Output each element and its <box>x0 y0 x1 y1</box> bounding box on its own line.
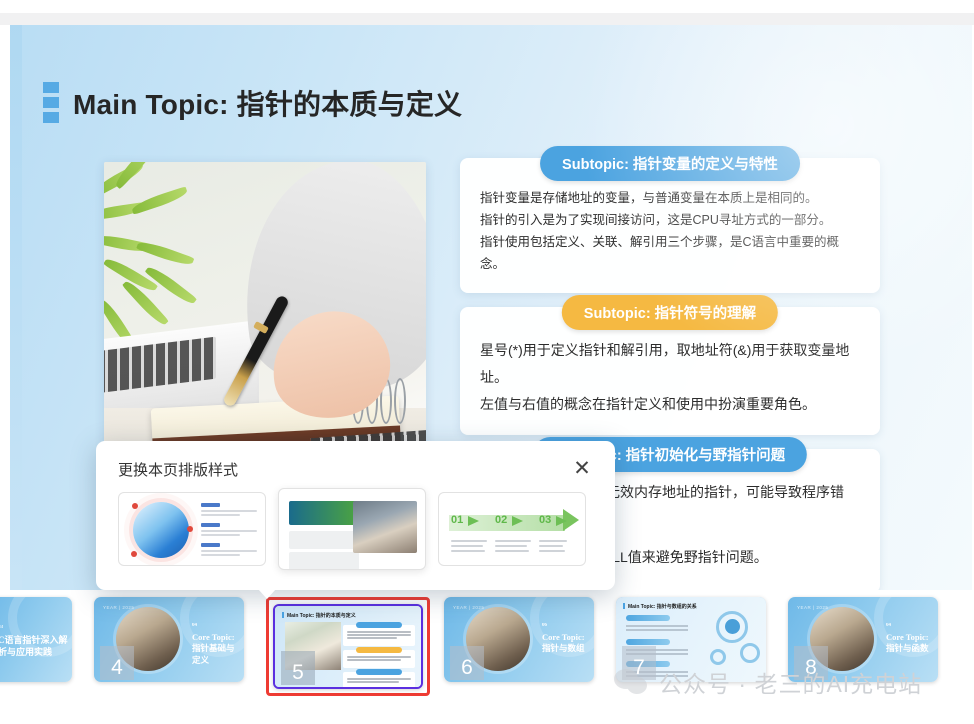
subtopic-line: 左值与右值的概念在指针定义和使用中扮演重要角色。 <box>480 391 860 418</box>
filmstrip-slot-selected[interactable]: Main Topic: 指针的本质与定义 <box>266 597 430 696</box>
person-icon <box>725 619 740 634</box>
mini-pill <box>356 622 402 628</box>
mini-pill <box>356 669 402 675</box>
slide-kicker: 04 <box>192 623 240 630</box>
window-toolbar-band <box>0 13 974 25</box>
slide-number: 4 <box>100 646 134 680</box>
green-banner-preview <box>289 501 359 525</box>
subtopic-line: 指针变量是存储地址的变量，与普通变量在本质上是相同的。 <box>480 188 860 210</box>
slide-thumb-title: 04 Core Topic: 指针基础与定义 <box>192 623 240 666</box>
slide-number: 5 <box>281 651 315 685</box>
slide-number: 7 <box>622 646 656 680</box>
close-icon[interactable]: ✕ <box>569 455 595 481</box>
mini-title-text: Main Topic: 指针的本质与定义 <box>287 613 356 619</box>
slide-number: 8 <box>794 646 828 680</box>
subtopic-pill: Subtopic: 指针变量的定义与特性 <box>540 146 800 181</box>
mini-card <box>343 672 415 688</box>
accent-dot <box>131 551 137 557</box>
layout-option-process-arrows[interactable]: 01 02 03 <box>438 492 586 566</box>
subtopic-line: 指针的引入是为了实现间接访问，这是CPU寻址方式的一部分。 <box>480 210 860 232</box>
mini-pill <box>356 647 402 653</box>
mini-title: Main Topic: 指针的本质与定义 <box>282 612 356 619</box>
slide-kicker-small: YEAR | 2025 <box>453 605 484 610</box>
slide-thumb-title: 06 Core Topic: 指针与数组 <box>542 623 590 655</box>
slide-thumbnail-8[interactable]: YEAR | 2025 04 Core Topic: 指针与函数 8 <box>788 597 938 682</box>
process-step: 02 <box>495 515 535 552</box>
subtopic-card[interactable]: Subtopic: 指针符号的理解 星号(*)用于定义指针和解引用，取地址符(&… <box>460 307 880 436</box>
filmstrip-slot[interactable]: Main Topic: 指针与数组的关系 7 <box>616 597 766 682</box>
plant-decoration <box>104 166 216 346</box>
slide-thumb-title-text: C语言指针深入解析与应用实践 <box>0 635 68 657</box>
slide-thumbnail-6[interactable]: YEAR | 2025 06 Core Topic: 指针与数组 6 <box>444 597 594 682</box>
subtopic-pill: Subtopic: 指针符号的理解 <box>562 295 778 330</box>
change-layout-dialog[interactable]: 更换本页排版样式 ✕ <box>96 441 615 590</box>
filmstrip-slot[interactable]: YEAR | 2025 04 Core Topic: 指针基础与定义 4 <box>94 597 244 682</box>
slide-thumb-title: 04 Core Topic: 指针与函数 <box>886 623 934 655</box>
subtopic-body: 星号(*)用于定义指针和解引用，取地址符(&)用于获取变量地址。 左值与右值的概… <box>480 337 860 419</box>
accent-dot <box>132 503 138 509</box>
process-step: 03 <box>539 515 579 552</box>
dialog-header: 更换本页排版样式 ✕ <box>96 441 615 480</box>
mini-card <box>343 625 415 646</box>
slide-kicker-small: YEAR | 2025 <box>797 605 828 610</box>
circle-image-preview <box>133 502 189 558</box>
slide-thumbnail-5[interactable]: Main Topic: 指针的本质与定义 <box>273 604 423 689</box>
accent-dot <box>187 526 193 532</box>
subtopic-card[interactable]: Subtopic: 指针变量的定义与特性 指针变量是存储地址的变量，与普通变量在… <box>460 158 880 293</box>
slide-filmstrip[interactable]: 03 C语言指针深入解析与应用实践 YEAR | 2025 04 Core To… <box>0 590 974 724</box>
mini-card <box>343 650 415 668</box>
app-root: Main Topic: 指针的本质与定义 <box>0 0 974 724</box>
mini-title-text: Main Topic: 指针与数组的关系 <box>628 604 697 610</box>
slide-number: 6 <box>450 646 484 680</box>
dialog-title: 更换本页排版样式 <box>118 459 593 480</box>
filmstrip-slot[interactable]: YEAR | 2025 04 Core Topic: 指针与函数 8 <box>788 597 938 682</box>
filmstrip-slot[interactable]: 03 C语言指针深入解析与应用实践 <box>0 597 72 682</box>
slide-thumb-title-text: Core Topic: 指针基础与定义 <box>192 632 235 665</box>
preview-text-block <box>289 552 359 570</box>
slide-thumb-title-text: Core Topic: 指针与数组 <box>542 632 585 653</box>
subtopic-body: 指针变量是存储地址的变量，与普通变量在本质上是相同的。 指针的引入是为了实现间接… <box>480 188 860 276</box>
slide-kicker: 06 <box>542 623 590 630</box>
mini-title: Main Topic: 指针与数组的关系 <box>623 603 697 610</box>
slide-thumbnail-7[interactable]: Main Topic: 指针与数组的关系 7 <box>616 597 766 682</box>
page-title: Main Topic: 指针的本质与定义 <box>43 82 462 123</box>
layout-option-green-banner[interactable] <box>278 488 426 570</box>
business-photo-preview <box>353 501 417 553</box>
three-squares-icon <box>43 82 59 123</box>
layout-option-circle-image[interactable] <box>118 492 266 566</box>
slide-thumbnail-4[interactable]: YEAR | 2025 04 Core Topic: 指针基础与定义 4 <box>94 597 244 682</box>
hero-photo[interactable] <box>104 162 426 470</box>
slide-thumbnail-3[interactable]: 03 C语言指针深入解析与应用实践 <box>0 597 72 682</box>
preview-text-lines <box>201 503 257 563</box>
layout-option-list: 01 02 03 <box>96 480 615 570</box>
slide-left-accent <box>10 25 22 590</box>
subtopic-line: 指针使用包括定义、关联、解引用三个步骤，是C语言中重要的概念。 <box>480 232 860 276</box>
slide-kicker: 03 <box>0 625 68 632</box>
slide-thumb-title: 03 C语言指针深入解析与应用实践 <box>0 625 68 658</box>
page-title-text: Main Topic: 指针的本质与定义 <box>73 83 462 123</box>
slide-kicker-small: YEAR | 2025 <box>103 605 134 610</box>
subtopic-line: 星号(*)用于定义指针和解引用，取地址符(&)用于获取变量地址。 <box>480 337 860 392</box>
slide-thumb-title-text: Core Topic: 指针与函数 <box>886 632 929 653</box>
slide-kicker: 04 <box>886 623 934 630</box>
process-step: 01 <box>451 515 491 552</box>
preview-text-block <box>289 531 359 549</box>
window-top-strip <box>0 0 974 13</box>
filmstrip-slot[interactable]: YEAR | 2025 06 Core Topic: 指针与数组 6 <box>444 597 594 682</box>
